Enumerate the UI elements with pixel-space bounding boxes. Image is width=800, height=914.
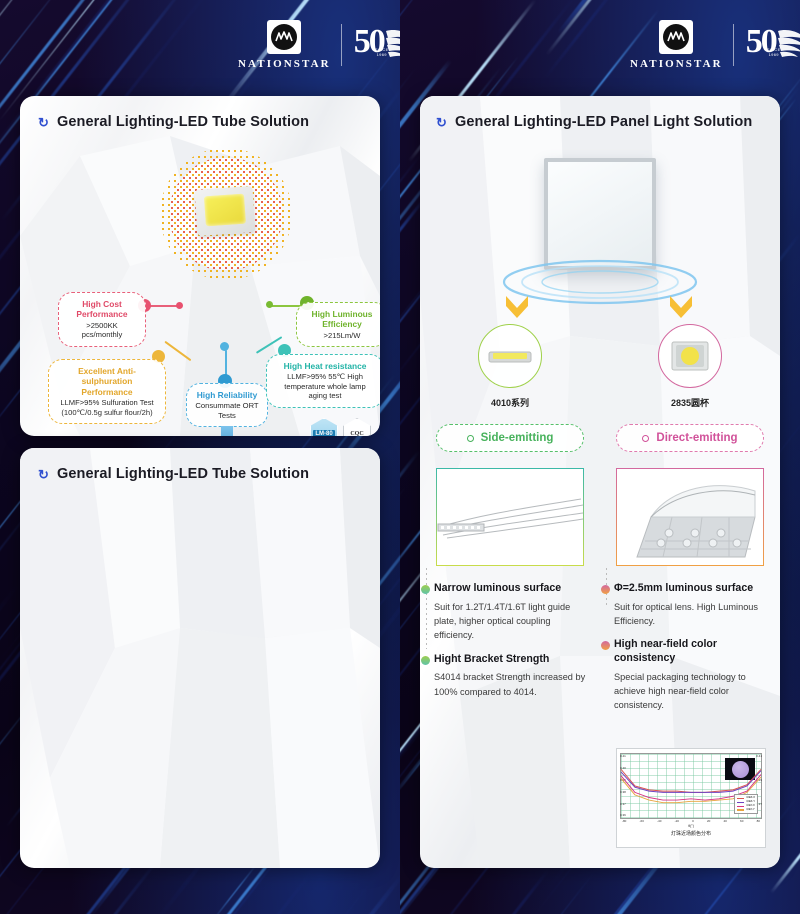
node-high-cost-performance: High Cost Performance >2500KK pcs/monthl… [58,292,146,347]
led-chip-image [194,186,255,236]
node-heading: High Cost Performance [66,299,138,320]
streak-line [215,872,400,914]
streak-line [400,154,421,454]
streak-line [436,907,637,914]
led-2835-icon [671,341,709,371]
streak-line [170,864,319,914]
xtick-label: 40 [724,819,727,823]
node-heading: High Heat resistance [274,361,376,371]
xtick-label: 60 [740,819,743,823]
pill-label: Direct-emitting [656,432,737,444]
chart-plot-area: 0.41 0.40 0.39 0.38 0.37 0.36 0.41 0.39 … [620,753,762,819]
feature-item: High near-field color consistency Specia… [614,638,768,712]
feature-body: Special packaging technology to achieve … [614,670,768,713]
left-panel: NATIONSTAR 50 SINCE 1969 [0,0,400,914]
anniversary-since: SINCE 1969 [373,47,391,57]
polygon-backdrop [20,448,380,868]
xtick-label: -20 [675,819,679,823]
card-led-tube-solution-2: ↻ General Lighting-LED Tube Solution [20,448,380,868]
circle-arrow-icon: ↻ [38,468,49,481]
logo-divider [341,24,342,66]
feature-columns: Narrow luminous surface Suit for 1.2T/1.… [420,582,780,723]
product-side-emitting: 4010系列 [420,324,600,409]
brand-header-left: NATIONSTAR 50 SINCE 1969 [0,0,400,92]
streak-line [483,868,550,914]
xtick-label: 80 [757,819,760,823]
feature-column-left: Narrow luminous surface Suit for 1.2T/1.… [420,582,600,723]
poster-root: NATIONSTAR 50 SINCE 1969 [0,0,800,914]
node-body: LLMF>95% 55℃ High temperature whole lamp… [274,372,376,400]
node-body: LLMF>95% Sulfuration Test (100℃/0.5g sul… [56,398,158,417]
bullet-dot-icon [421,585,430,594]
node-heading: High Luminous Efficiency [304,309,380,330]
feature-column-right: Φ=2.5mm luminous surface Suit for optica… [600,582,780,723]
feature-body: Suit for optical lens. High Luminous Eff… [614,600,768,629]
streak-line [0,583,20,914]
illustration-light-guide-plate [436,468,584,566]
xtick-label: -40 [657,819,661,823]
chart-legend: CIEX-XCIEX-YCIEY-XCIEY-Y [734,794,758,814]
near-field-color-chart: 0.41 0.40 0.39 0.38 0.37 0.36 0.41 0.39 … [616,748,766,848]
card-led-panel-light-solution: ↻ General Lighting-LED Panel Light Solut… [420,96,780,868]
pill-side-emitting[interactable]: Side-emitting [436,424,584,452]
card3-title-row: ↻ General Lighting-LED Panel Light Solut… [436,114,780,130]
feature-heading: Hight Bracket Strength [434,653,588,667]
illustration-wrap-direct [600,468,780,566]
circle-marker-icon [467,435,474,442]
node-body: >2500KK pcs/monthly [66,321,138,340]
bullet-dot-icon [601,641,610,650]
node-heading: Excellent Anti-sulphuration Performance [56,366,158,397]
chevron-down-icon-left [504,292,530,326]
brand-name: NATIONSTAR [630,58,723,70]
connector-cost [146,305,180,307]
xtick-label: -80 [622,819,626,823]
chevron-down-icon-right [668,292,694,326]
feature-body: Suit for 1.2T/1.4T/1.6T light guide plat… [434,600,588,643]
streak-line [407,873,593,914]
product-direct-emitting: 2835圆杯 [600,324,780,409]
direct-panel-graphic [617,469,764,566]
cqc-label: CQC [350,431,363,436]
illustration-wrap-side [420,468,600,566]
product-label: 4010系列 [491,396,529,409]
node-body: Consummate ORT Tests [194,401,260,420]
xtick-label: -60 [640,819,644,823]
nationstar-logo: NATIONSTAR [238,20,331,70]
illustration-row [420,468,780,566]
pill-wrap-side[interactable]: Side-emitting [420,424,600,452]
dot-cost-hub [176,302,183,309]
chart-series-CIEX-Y [621,771,761,793]
anniversary-since: SINCE 1969 [765,47,783,57]
node-anti-sulphuration: Excellent Anti-sulphuration Performance … [48,359,166,424]
feature-item: Φ=2.5mm luminous surface Suit for optica… [614,582,768,628]
lm80-badge: LM-80 [310,418,338,436]
light-guide-plate-graphic [437,469,584,566]
pill-direct-emitting[interactable]: Direct-emitting [616,424,764,452]
lm80-label: LM-80 [313,430,334,436]
cqc-badge: CQC [343,418,371,436]
emitting-type-row: Side-emitting Direct-emitting [420,424,780,452]
nationstar-mark-icon [267,20,301,54]
feature-item: Hight Bracket Strength S4014 bracket Str… [434,653,588,699]
logo-divider [733,24,734,66]
bullet-dot-icon [601,585,610,594]
feature-item: Narrow luminous surface Suit for 1.2T/1.… [434,582,588,643]
circle-arrow-icon: ↻ [38,116,49,129]
node-high-heat-resistance: High Heat resistance LLMF>95% 55℃ High t… [266,354,380,408]
product-label: 2835圆杯 [671,396,709,409]
feature-body: S4014 bracket Strength increased by 100%… [434,670,588,699]
legend-item: CIEY-Y [737,808,755,812]
card2-title-row: ↻ General Lighting-LED Tube Solution [38,466,380,482]
feature-heading: High near-field color consistency [614,638,768,666]
page-title: General Lighting-LED Tube Solution [57,466,309,482]
panel-light-image [544,158,656,270]
nationstar-logo: NATIONSTAR [630,20,723,70]
streak-line [400,487,406,814]
anniversary-emblem: 50 SINCE 1969 [744,21,800,69]
led-hub [170,158,282,270]
xtick-label: 20 [707,819,710,823]
bullet-dot-icon [421,656,430,665]
streak-line [212,863,258,914]
streak-line [400,67,417,312]
page-title: General Lighting-LED Panel Light Solutio… [455,114,752,130]
logo-lockup-left: NATIONSTAR 50 SINCE 1969 [238,20,400,70]
logo-lockup-right: NATIONSTAR 50 SINCE 1969 [630,20,800,70]
streak-line [400,450,420,647]
dot-reliability-hub [220,342,229,351]
anniversary-emblem: 50 SINCE 1969 [352,21,400,69]
product-row: 4010系列 2835圆杯 [420,324,780,409]
pill-wrap-direct[interactable]: Direct-emitting [600,424,780,452]
right-panel: NATIONSTAR 50 SINCE 1969 [400,0,800,914]
chart-xticks: -80-60-40-20020406080 [620,819,762,823]
wing-icon [382,23,400,63]
connector-anti [165,341,192,361]
down-arrow-icon [210,426,244,436]
circle-marker-icon [642,435,649,442]
feature-heading: Narrow luminous surface [434,582,588,596]
nationstar-mark-icon [659,20,693,54]
led-4010-icon [488,347,532,365]
node-heading: High Reliability [194,390,260,400]
feature-heading: Φ=2.5mm luminous surface [614,582,768,596]
streak-line [259,880,372,914]
brand-header-right: NATIONSTAR 50 SINCE 1969 [400,0,800,92]
chart-title: 灯珠近场颜色分布 [620,830,762,837]
wing-icon [774,23,800,63]
brand-name: NATIONSTAR [238,58,331,70]
product-image-4010 [478,324,542,388]
pill-label: Side-emitting [481,432,554,444]
node-body: >215Lm/W [304,331,380,340]
product-image-2835 [658,324,722,388]
circle-arrow-icon: ↻ [436,116,447,129]
card1-title-row: ↻ General Lighting-LED Tube Solution [38,114,380,130]
node-high-reliability: High Reliability Consummate ORT Tests [186,383,268,427]
chart-xlabel: θ(°) [620,824,762,828]
xtick-label: 0 [692,819,694,823]
page-title: General Lighting-LED Tube Solution [57,114,309,130]
node-high-luminous-efficiency: High Luminous Efficiency >215Lm/W [296,302,380,347]
certification-badges: LM-80 CQC [310,418,371,436]
card-led-tube-solution-1: ↻ General Lighting-LED Tube Solution [20,96,380,436]
dot-luminous-hub [266,301,273,308]
illustration-direct-panel [616,468,764,566]
